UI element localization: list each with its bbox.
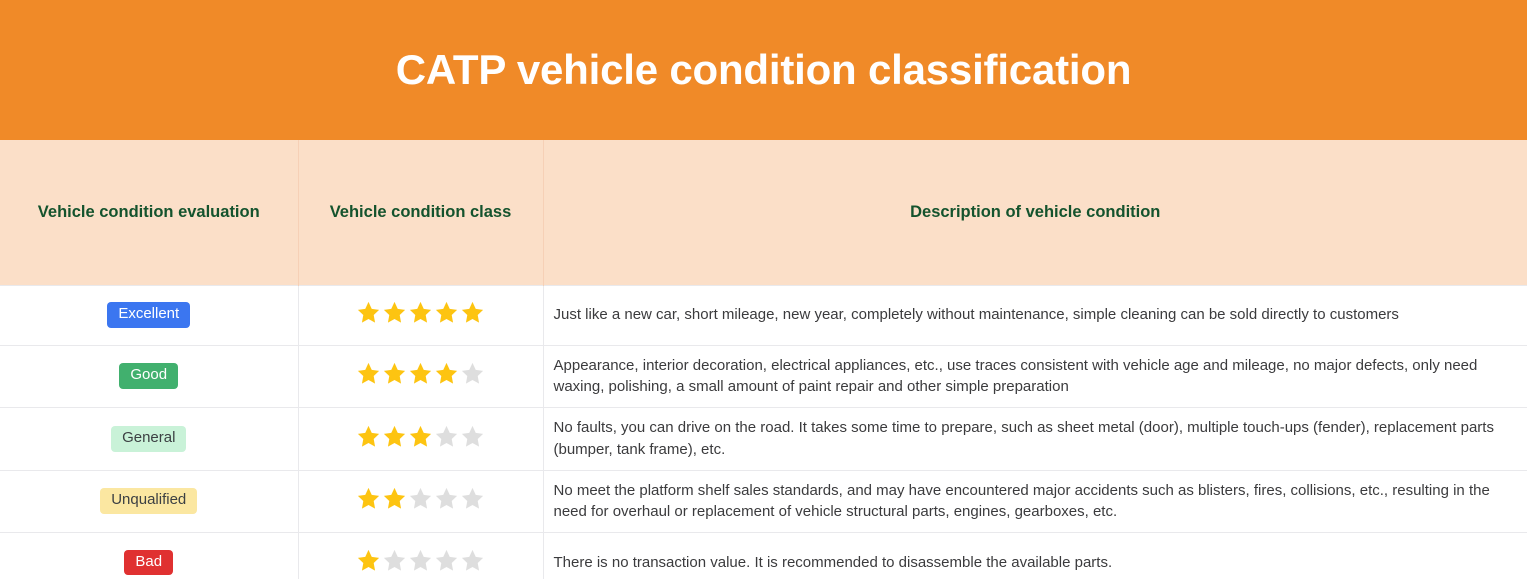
cell-description: Appearance, interior decoration, electri… [543, 345, 1527, 408]
cell-condition-class [298, 470, 543, 533]
star-filled-icon [408, 361, 433, 386]
star-filled-icon [382, 361, 407, 386]
star-empty-icon [408, 486, 433, 511]
table-row: GoodAppearance, interior decoration, ele… [0, 345, 1527, 408]
description-text: Just like a new car, short mileage, new … [554, 304, 1512, 326]
status-badge: Bad [124, 550, 173, 576]
star-rating [356, 300, 485, 325]
star-rating [356, 361, 485, 386]
title-banner: CATP vehicle condition classification [0, 0, 1527, 140]
column-header-description: Description of vehicle condition [543, 140, 1527, 285]
star-filled-icon [356, 424, 381, 449]
description-text: No meet the platform shelf sales standar… [554, 480, 1512, 524]
cell-condition-class [298, 285, 543, 345]
star-rating [356, 548, 485, 573]
cell-condition-class [298, 408, 543, 471]
status-badge: Excellent [107, 302, 190, 328]
description-text: There is no transaction value. It is rec… [554, 552, 1512, 574]
cell-evaluation: Good [0, 345, 298, 408]
star-filled-icon [356, 300, 381, 325]
star-rating [356, 486, 485, 511]
table-header-row: Vehicle condition evaluation Vehicle con… [0, 140, 1527, 285]
status-badge: Good [119, 363, 178, 389]
star-filled-icon [382, 300, 407, 325]
star-empty-icon [434, 424, 459, 449]
column-header-evaluation: Vehicle condition evaluation [0, 140, 298, 285]
vehicle-condition-table: Vehicle condition evaluation Vehicle con… [0, 140, 1527, 579]
star-filled-icon [434, 361, 459, 386]
star-empty-icon [434, 548, 459, 573]
table-body: ExcellentJust like a new car, short mile… [0, 285, 1527, 579]
star-empty-icon [408, 548, 433, 573]
cell-condition-class [298, 345, 543, 408]
star-filled-icon [356, 548, 381, 573]
star-rating [356, 424, 485, 449]
star-filled-icon [408, 300, 433, 325]
table-row: GeneralNo faults, you can drive on the r… [0, 408, 1527, 471]
star-filled-icon [408, 424, 433, 449]
star-filled-icon [382, 486, 407, 511]
description-text: Appearance, interior decoration, electri… [554, 355, 1512, 399]
cell-description: No meet the platform shelf sales standar… [543, 470, 1527, 533]
cell-description: No faults, you can drive on the road. It… [543, 408, 1527, 471]
cell-description: Just like a new car, short mileage, new … [543, 285, 1527, 345]
column-header-class: Vehicle condition class [298, 140, 543, 285]
star-empty-icon [382, 548, 407, 573]
status-badge: Unqualified [100, 488, 197, 514]
star-filled-icon [356, 486, 381, 511]
cell-evaluation: Bad [0, 533, 298, 579]
table-row: UnqualifiedNo meet the platform shelf sa… [0, 470, 1527, 533]
status-badge: General [111, 426, 186, 452]
star-filled-icon [382, 424, 407, 449]
star-empty-icon [434, 486, 459, 511]
star-filled-icon [434, 300, 459, 325]
cell-evaluation: Unqualified [0, 470, 298, 533]
cell-evaluation: Excellent [0, 285, 298, 345]
description-text: No faults, you can drive on the road. It… [554, 417, 1512, 461]
star-empty-icon [460, 548, 485, 573]
cell-condition-class [298, 533, 543, 579]
cell-description: There is no transaction value. It is rec… [543, 533, 1527, 579]
catp-classification-page: CATP vehicle condition classification Ve… [0, 0, 1527, 579]
star-empty-icon [460, 424, 485, 449]
star-empty-icon [460, 486, 485, 511]
table-header: Vehicle condition evaluation Vehicle con… [0, 140, 1527, 285]
page-title: CATP vehicle condition classification [396, 49, 1132, 91]
star-empty-icon [460, 361, 485, 386]
star-filled-icon [460, 300, 485, 325]
table-row: ExcellentJust like a new car, short mile… [0, 285, 1527, 345]
table-row: BadThere is no transaction value. It is … [0, 533, 1527, 579]
star-filled-icon [356, 361, 381, 386]
cell-evaluation: General [0, 408, 298, 471]
